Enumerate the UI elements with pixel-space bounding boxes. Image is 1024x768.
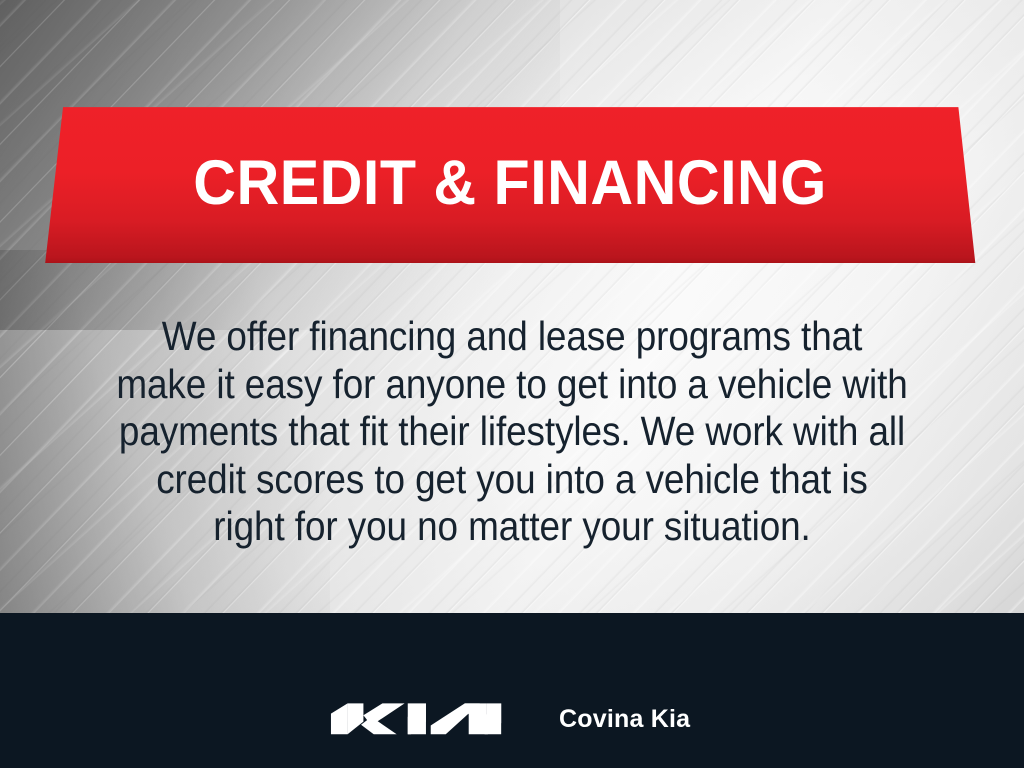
footer-content: Covina Kia bbox=[327, 701, 690, 739]
page-title: CREDIT & FINANCING bbox=[68, 106, 952, 264]
footer-bar: Covina Kia bbox=[0, 613, 1024, 768]
body-paragraph: We offer financing and lease programs th… bbox=[116, 313, 908, 551]
kia-logo bbox=[327, 701, 517, 739]
dealer-name: Covina Kia bbox=[559, 705, 690, 734]
slide-canvas: CREDIT & FINANCING We offer financing an… bbox=[0, 0, 1024, 768]
